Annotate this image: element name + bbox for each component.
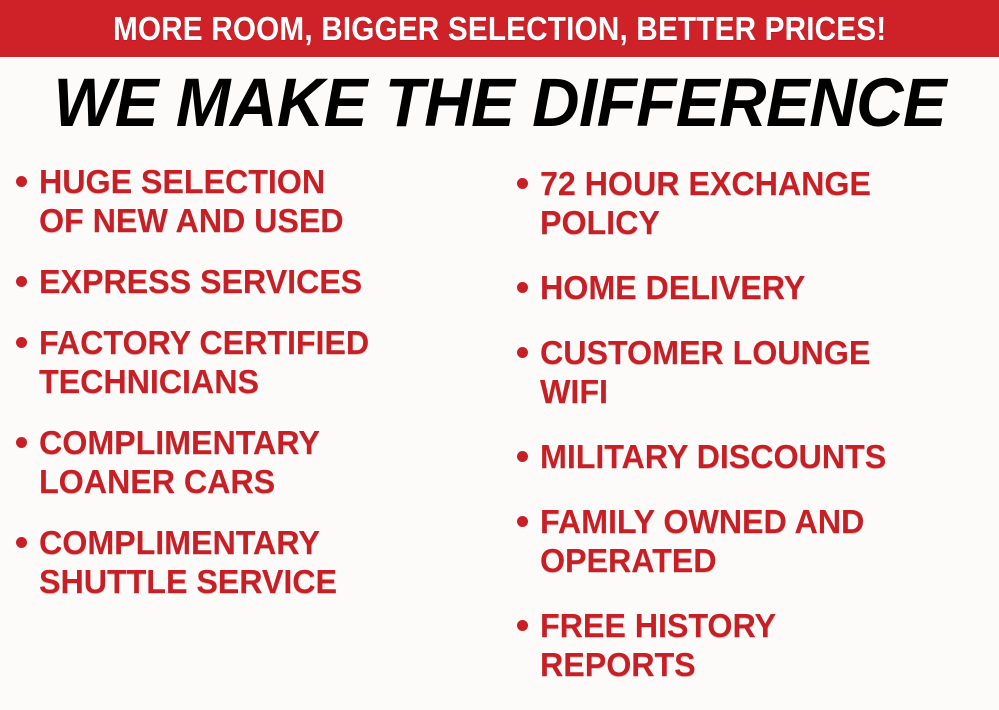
list-item-label: 72 HOUR EXCHANGE POLICY bbox=[540, 164, 871, 242]
list-item: 72 HOUR EXCHANGE POLICY bbox=[517, 164, 999, 242]
list-item-label: MILITARY DISCOUNTS bbox=[540, 437, 886, 476]
benefits-column-left: HUGE SELECTION OF NEW AND USED EXPRESS S… bbox=[0, 152, 500, 623]
bullet-dot-icon bbox=[517, 620, 528, 631]
bullet-dot-icon bbox=[517, 451, 528, 462]
bullet-dot-icon bbox=[517, 516, 528, 527]
list-item: FACTORY CERTIFIED TECHNICIANS bbox=[16, 323, 500, 401]
list-item-label: FREE HISTORY REPORTS bbox=[540, 606, 776, 684]
page-title: WE MAKE THE DIFFERENCE bbox=[53, 68, 946, 138]
top-banner: MORE ROOM, BIGGER SELECTION, BETTER PRIC… bbox=[0, 0, 999, 57]
main-headline-area: WE MAKE THE DIFFERENCE bbox=[0, 64, 999, 142]
list-item-label: HUGE SELECTION OF NEW AND USED bbox=[39, 162, 344, 240]
bullet-dot-icon bbox=[517, 178, 528, 189]
list-item: CUSTOMER LOUNGE WIFI bbox=[517, 333, 999, 411]
bullet-dot-icon bbox=[16, 337, 27, 348]
benefits-columns: HUGE SELECTION OF NEW AND USED EXPRESS S… bbox=[0, 152, 999, 692]
list-item: HUGE SELECTION OF NEW AND USED bbox=[16, 162, 500, 240]
promo-poster: MORE ROOM, BIGGER SELECTION, BETTER PRIC… bbox=[0, 0, 999, 692]
list-item: FAMILY OWNED AND OPERATED bbox=[517, 502, 999, 580]
benefits-column-right: 72 HOUR EXCHANGE POLICY HOME DELIVERY CU… bbox=[500, 152, 999, 710]
list-item-label: CUSTOMER LOUNGE WIFI bbox=[540, 333, 870, 411]
list-item: FREE HISTORY REPORTS bbox=[517, 606, 999, 684]
bullet-dot-icon bbox=[517, 282, 528, 293]
list-item-label: FAMILY OWNED AND OPERATED bbox=[540, 502, 864, 580]
bullet-dot-icon bbox=[16, 537, 27, 548]
list-item-label: COMPLIMENTARY SHUTTLE SERVICE bbox=[39, 523, 337, 601]
list-item: EXPRESS SERVICES bbox=[16, 262, 500, 301]
list-item: MILITARY DISCOUNTS bbox=[517, 437, 999, 476]
bullet-dot-icon bbox=[16, 437, 27, 448]
banner-headline: MORE ROOM, BIGGER SELECTION, BETTER PRIC… bbox=[113, 12, 886, 45]
bullet-dot-icon bbox=[517, 347, 528, 358]
bullet-dot-icon bbox=[16, 176, 27, 187]
bullet-dot-icon bbox=[16, 276, 27, 287]
list-item-label: FACTORY CERTIFIED TECHNICIANS bbox=[39, 323, 369, 401]
list-item: HOME DELIVERY bbox=[517, 268, 999, 307]
list-item-label: EXPRESS SERVICES bbox=[39, 262, 362, 301]
list-item: COMPLIMENTARY LOANER CARS bbox=[16, 423, 500, 501]
list-item: COMPLIMENTARY SHUTTLE SERVICE bbox=[16, 523, 500, 601]
list-item-label: HOME DELIVERY bbox=[540, 268, 805, 307]
list-item-label: COMPLIMENTARY LOANER CARS bbox=[39, 423, 320, 501]
